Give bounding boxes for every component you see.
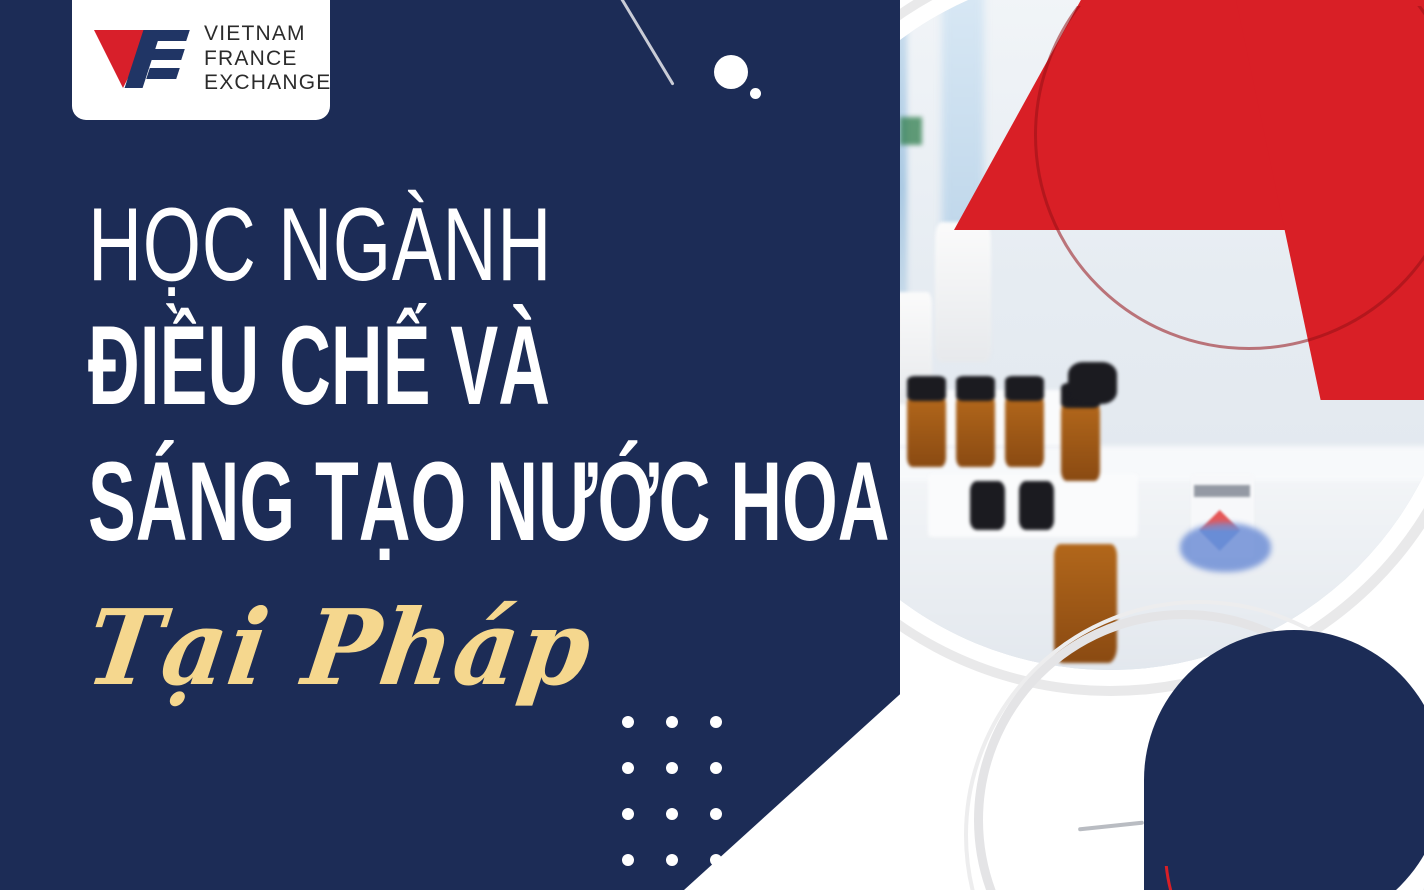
logo-wordmark: VIETNAM FRANCE EXCHANGE — [204, 22, 331, 96]
logo-line-1: VIETNAM — [204, 22, 331, 47]
logo-line-3: EXCHANGE — [204, 71, 331, 96]
headline-script: Tại Pháp — [79, 586, 1286, 709]
headline-line-3: SÁNG TẠO NƯỚC HOA — [88, 436, 890, 568]
headline-line-1: HỌC NGÀNH — [88, 196, 990, 296]
vfe-logo-mark — [94, 28, 194, 90]
headline-line-2: ĐIỀU CHẾ VÀ — [88, 300, 890, 432]
logo-line-2: FRANCE — [204, 47, 331, 72]
marketing-banner: VIETNAM FRANCE EXCHANGE HỌC NGÀNH ĐIỀU C… — [0, 0, 1424, 890]
pin-dot-small-icon — [750, 88, 761, 99]
vfe-logo[interactable]: VIETNAM FRANCE EXCHANGE — [72, 0, 330, 120]
dot-grid-icon — [622, 716, 754, 890]
lab-exit-sign — [900, 117, 922, 145]
navy-e-icon — [132, 30, 188, 88]
pin-dot-icon — [714, 55, 748, 89]
headline-block: HỌC NGÀNH ĐIỀU CHẾ VÀ SÁNG TẠO NƯỚC HOA … — [88, 196, 1340, 709]
